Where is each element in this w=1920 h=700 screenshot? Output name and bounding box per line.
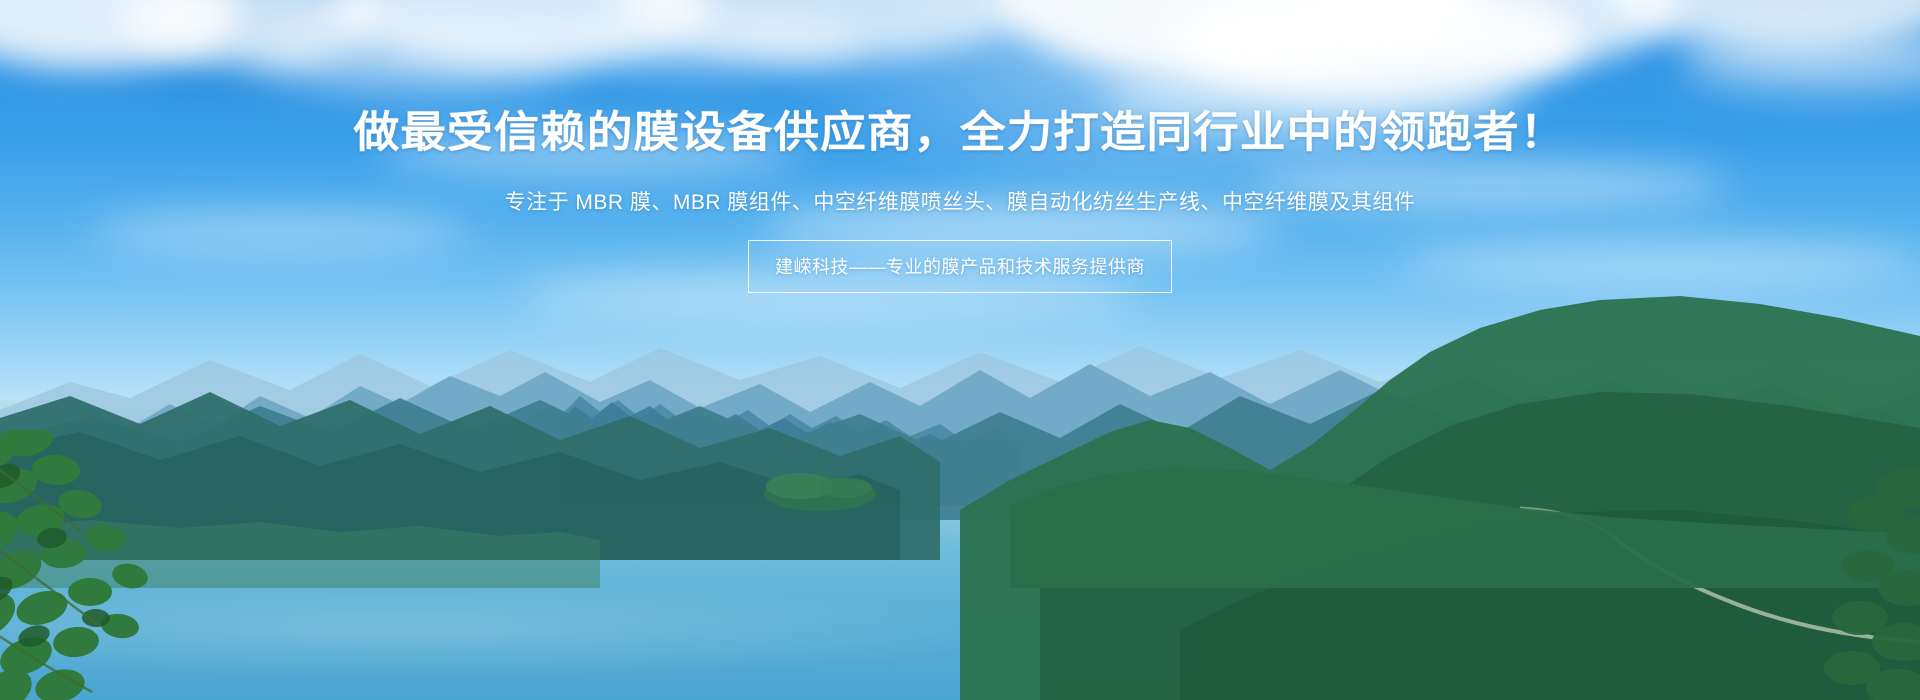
cloud-icon — [1250, 160, 1730, 210]
cloud-icon — [760, 200, 1280, 254]
cloud-icon — [380, 130, 800, 176]
cloud-icon — [1100, 60, 1520, 130]
cloud-icon — [560, 10, 860, 70]
foliage-right — [1740, 470, 1920, 700]
cloud-icon — [90, 210, 470, 254]
foliage-left — [0, 430, 290, 700]
hero-banner: 做最受信赖的膜设备供应商，全力打造同行业中的领跑者！ 专注于 MBR 膜、MBR… — [0, 0, 1920, 700]
